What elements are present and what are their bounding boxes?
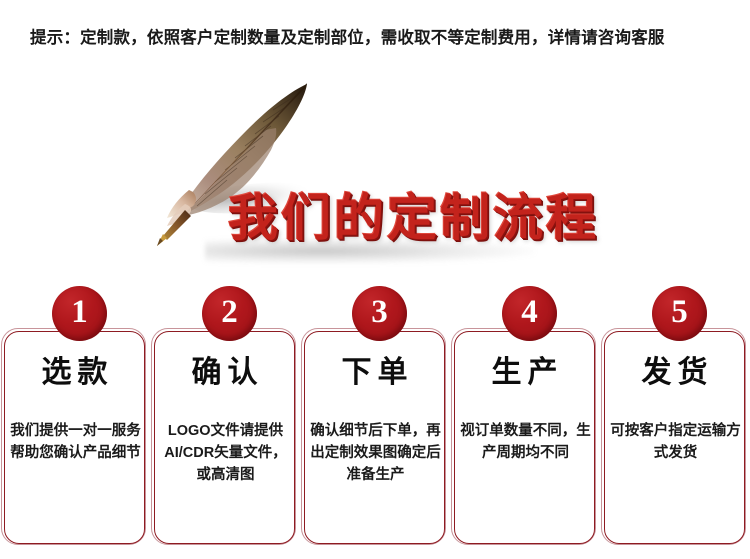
step-number-badge: 1: [52, 286, 107, 341]
step-card: 选款 我们提供一对一服务帮助您确认产品细节: [4, 331, 145, 544]
step-description: 可按客户指定运输方式发货: [610, 420, 741, 464]
step-number-label: 5: [652, 286, 707, 341]
step-card: 确认 LOGO文件请提供AI/CDR矢量文件，或高清图: [154, 331, 295, 544]
step-description: LOGO文件请提供AI/CDR矢量文件，或高清图: [160, 420, 291, 486]
step-description: 确认细节后下单，再出定制效果图确定后准备生产: [310, 420, 441, 486]
step-card: 下单 确认细节后下单，再出定制效果图确定后准备生产: [304, 331, 445, 544]
step-title: 下单: [305, 358, 444, 388]
process-step-3: 3 下单 确认细节后下单，再出定制效果图确定后准备生产: [300, 282, 447, 559]
step-title: 选款: [5, 358, 144, 388]
process-step-1: 1 选款 我们提供一对一服务帮助您确认产品细节: [0, 282, 147, 559]
step-number-label: 3: [352, 286, 407, 341]
step-number-badge: 5: [652, 286, 707, 341]
step-number-label: 4: [502, 286, 557, 341]
step-number-badge: 2: [202, 286, 257, 341]
step-number-badge: 4: [502, 286, 557, 341]
step-title: 确认: [155, 358, 294, 388]
step-number-badge: 3: [352, 286, 407, 341]
customization-notice-text: 提示：定制款，依照客户定制数量及定制部位，需收取不等定制费用，详情请咨询客服: [30, 24, 665, 48]
step-number-label: 1: [52, 286, 107, 341]
step-number-label: 2: [202, 286, 257, 341]
process-step-2: 2 确认 LOGO文件请提供AI/CDR矢量文件，或高清图: [150, 282, 297, 559]
process-steps-row: 1 选款 我们提供一对一服务帮助您确认产品细节 2 确认 LOGO文件请提供AI…: [0, 282, 750, 559]
step-description: 视订单数量不同，生产周期均不同: [460, 420, 591, 464]
step-card: 发货 可按客户指定运输方式发货: [604, 331, 745, 544]
step-card: 生产 视订单数量不同，生产周期均不同: [454, 331, 595, 544]
process-step-4: 4 生产 视订单数量不同，生产周期均不同: [450, 282, 597, 559]
step-title: 发货: [605, 358, 744, 388]
process-step-5: 5 发货 可按客户指定运输方式发货: [600, 282, 747, 559]
step-title: 生产: [455, 358, 594, 388]
step-description: 我们提供一对一服务帮助您确认产品细节: [10, 420, 141, 464]
page-title: 我们的定制流程: [228, 193, 599, 243]
hero-banner: 我们的定制流程: [0, 60, 750, 275]
